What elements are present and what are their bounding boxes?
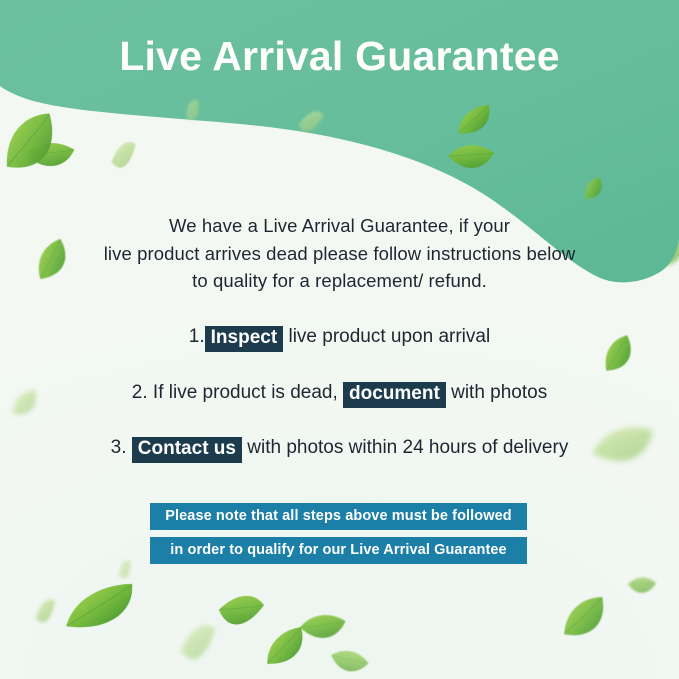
step-2-text-after: with photos [446,382,547,403]
step-1-number: 1. [189,326,205,347]
step-3-highlight: Contact us [132,437,242,463]
live-arrival-guarantee-poster: Live Arrival Guarantee We have a Live Ar… [0,0,679,679]
step-3-number: 3. [111,437,127,458]
intro-line-3: to quality for a replacement/ refund. [50,267,629,295]
note-bar-line-1: Please note that all steps above must be… [150,503,527,530]
step-2-number: 2. [132,382,148,403]
note-bar-line-2: in order to qualify for our Live Arrival… [150,537,527,564]
step-item-3: 3. Contact us with photos within 24 hour… [0,435,679,462]
step-item-1: 1.Inspect live product upon arrival [0,324,679,351]
step-3-text-after: with photos within 24 hours of delivery [242,437,568,458]
content-area: We have a Live Arrival Guarantee, if you… [0,0,679,679]
step-2-text-before: If live product is dead, [148,382,343,403]
intro-line-1: We have a Live Arrival Guarantee, if you… [50,212,629,240]
step-1-text-after: live product upon arrival [283,326,490,347]
step-1-highlight: Inspect [205,326,284,352]
step-2-highlight: document [343,382,446,408]
intro-line-2: live product arrives dead please follow … [50,240,629,268]
step-item-2: 2. If live product is dead, document wit… [0,380,679,407]
intro-paragraph: We have a Live Arrival Guarantee, if you… [50,212,629,295]
